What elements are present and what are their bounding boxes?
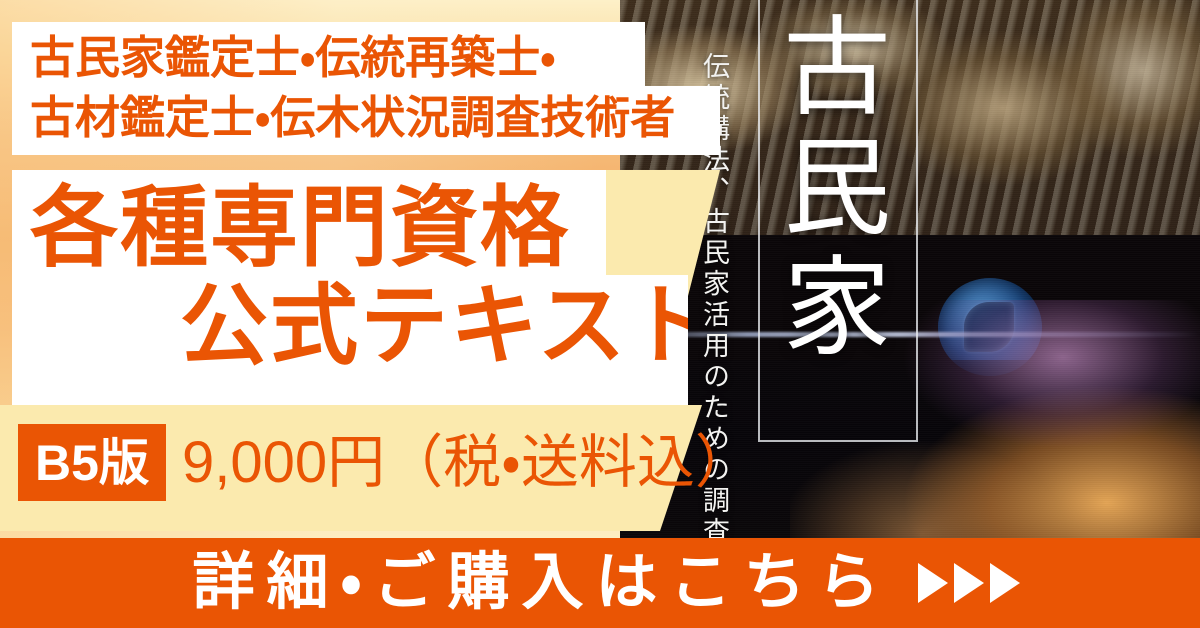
triangle-right-icon	[918, 563, 948, 603]
format-badge: B5版	[18, 424, 166, 501]
format-badge-label: B5版	[35, 438, 149, 488]
qualifications-line-2: 古材鑑定士・伝木状況調査技術者	[30, 88, 675, 148]
headline-panel: 各種専門資格 公式テキスト	[12, 170, 688, 405]
promo-banner: 伝統構法、古民家活用のための調査と再生の 古民家 古民家鑑定士・伝統再築士・ 古…	[0, 0, 1200, 628]
qualifications-panel: 古民家鑑定士・伝統再築士・ 古材鑑定士・伝木状況調査技術者	[12, 22, 720, 155]
headline-line-2: 公式テキスト	[180, 274, 717, 378]
cta-arrow-group	[918, 563, 1020, 603]
cta-label: 詳細・ご購入はこちら	[180, 552, 891, 614]
price-label: 9,000円（税・送料込）	[182, 428, 753, 498]
triangle-right-icon	[990, 563, 1020, 603]
cover-title: 古民家	[788, 10, 892, 370]
headline-line-1: 各種専門資格	[30, 176, 570, 280]
triangle-right-icon	[954, 563, 984, 603]
cta-bar[interactable]: 詳細・ご購入はこちら	[0, 538, 1200, 628]
qualifications-line-1: 古民家鑑定士・伝統再築士・	[30, 28, 556, 88]
